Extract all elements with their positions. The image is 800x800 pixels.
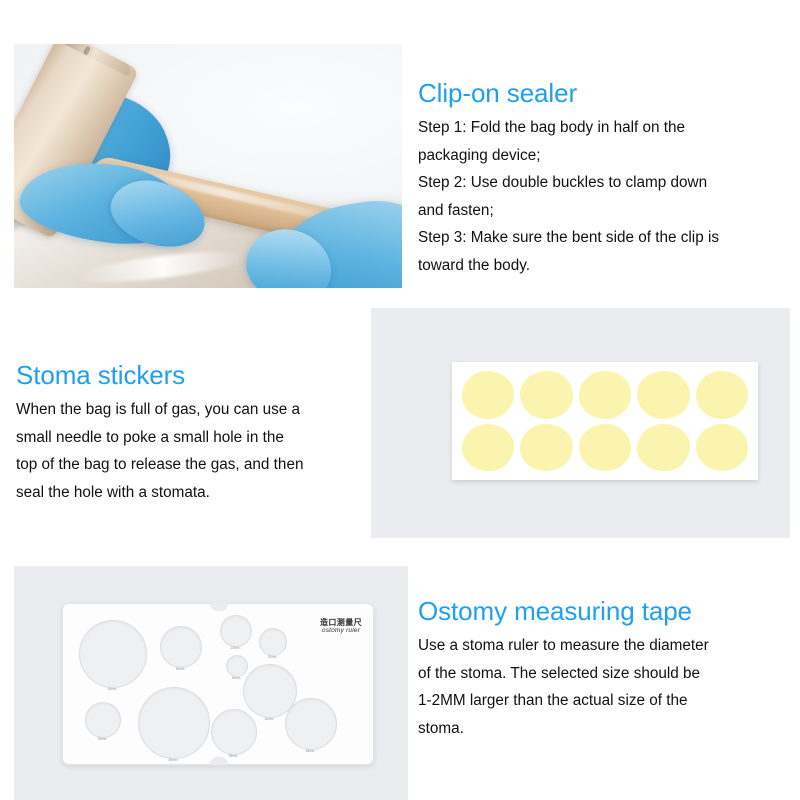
ruler-hole bbox=[259, 628, 287, 656]
stoma-sticker bbox=[520, 371, 572, 419]
clip-on-sealer-body: Step 1: Fold the bag body in half on the… bbox=[418, 114, 786, 279]
card-notch-top bbox=[210, 603, 228, 611]
ostomy-ruler-card: 45mm30mm25mm50mm22mm15mm20mm40mm35mm38mm… bbox=[62, 603, 374, 765]
ruler-brand-cn: 造口测量尺 bbox=[320, 618, 362, 627]
stoma-sticker bbox=[462, 424, 514, 472]
stoma-stickers-text-block: Stoma stickers When the bag is full of g… bbox=[16, 360, 366, 506]
ruler-hole-label: 40mm bbox=[265, 717, 274, 721]
stoma-sticker bbox=[696, 424, 748, 472]
ruler-hole-label: 15mm bbox=[232, 676, 241, 680]
ruler-hole bbox=[285, 698, 337, 750]
ostomy-measuring-tape-body: Use a stoma ruler to measure the diamete… bbox=[418, 632, 786, 742]
ruler-hole bbox=[160, 626, 202, 668]
stoma-stickers-body: When the bag is full of gas, you can use… bbox=[16, 396, 366, 506]
stoma-sticker bbox=[579, 371, 631, 419]
stoma-sticker bbox=[520, 424, 572, 472]
ruler-hole bbox=[138, 687, 210, 759]
ostomy-measuring-tape-text-block: Ostomy measuring tape Use a stoma ruler … bbox=[418, 596, 786, 742]
ruler-hole-label: 38mm bbox=[306, 749, 315, 753]
body-line: toward the body. bbox=[418, 252, 786, 280]
body-line: Step 1: Fold the bag body in half on the bbox=[418, 114, 786, 142]
body-line: stoma. bbox=[418, 715, 786, 743]
ruler-brand: 造口测量尺 ostomy ruler bbox=[320, 618, 362, 635]
body-line: of the stoma. The selected size should b… bbox=[418, 660, 786, 688]
stoma-sticker bbox=[637, 424, 689, 472]
body-line: Step 2: Use double buckles to clamp down bbox=[418, 169, 786, 197]
body-line: Step 3: Make sure the bent side of the c… bbox=[418, 224, 786, 252]
stoma-stickers-photo bbox=[371, 308, 790, 538]
stoma-stickers-heading: Stoma stickers bbox=[16, 360, 366, 390]
sticker-sheet bbox=[452, 362, 758, 480]
ruler-hole bbox=[211, 709, 257, 755]
body-line: packaging device; bbox=[418, 142, 786, 170]
ruler-hole-label: 45mm bbox=[108, 687, 117, 691]
body-line: seal the hole with a stomata. bbox=[16, 479, 366, 507]
ruler-hole bbox=[220, 615, 252, 647]
stoma-sticker bbox=[637, 371, 689, 419]
body-line: When the bag is full of gas, you can use… bbox=[16, 396, 366, 424]
ruler-hole bbox=[85, 702, 121, 738]
ruler-brand-en: ostomy ruler bbox=[320, 627, 362, 635]
stoma-sticker bbox=[462, 371, 514, 419]
ruler-hole-label: 22mm bbox=[231, 646, 240, 650]
ruler-hole-label: 35mm bbox=[229, 754, 238, 758]
ruler-hole-label: 30mm bbox=[176, 667, 185, 671]
body-line: Use a stoma ruler to measure the diamete… bbox=[418, 632, 786, 660]
clip-on-sealer-heading: Clip-on sealer bbox=[418, 78, 786, 108]
sticker-grid bbox=[462, 371, 748, 471]
ruler-hole-label: 20mm bbox=[268, 655, 277, 659]
clip-on-sealer-photo bbox=[14, 44, 402, 288]
body-line: and fasten; bbox=[418, 197, 786, 225]
body-line: 1-2MM larger than the actual size of the bbox=[418, 687, 786, 715]
card-notch-bottom bbox=[210, 757, 228, 765]
stoma-sticker bbox=[579, 424, 631, 472]
ruler-hole-label: 25mm bbox=[98, 737, 107, 741]
ostomy-measuring-tape-heading: Ostomy measuring tape bbox=[418, 596, 786, 626]
ruler-hole-label: 50mm bbox=[169, 758, 178, 762]
clip-on-sealer-text-block: Clip-on sealer Step 1: Fold the bag body… bbox=[418, 78, 786, 279]
ruler-hole bbox=[79, 620, 147, 688]
body-line: small needle to poke a small hole in the bbox=[16, 424, 366, 452]
ostomy-ruler-photo: 45mm30mm25mm50mm22mm15mm20mm40mm35mm38mm… bbox=[14, 566, 408, 800]
stoma-sticker bbox=[696, 371, 748, 419]
body-line: top of the bag to release the gas, and t… bbox=[16, 451, 366, 479]
ruler-hole bbox=[226, 655, 248, 677]
